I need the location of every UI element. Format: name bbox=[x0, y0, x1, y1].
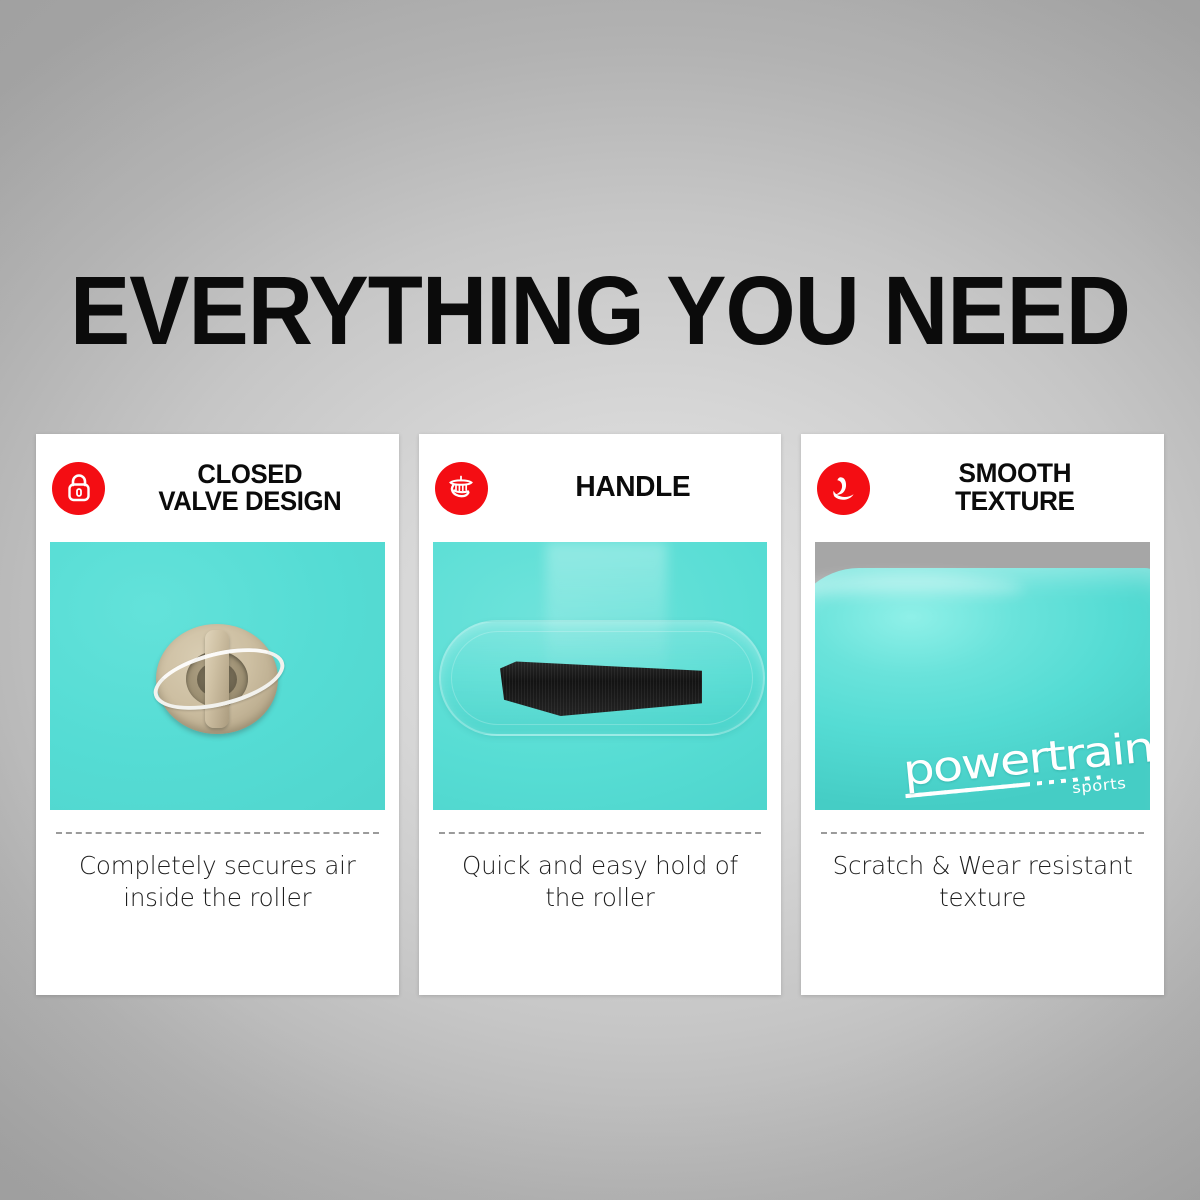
feature-card-smooth-texture[interactable]: SMOOTH TEXTURE powertrain sports Scratch… bbox=[801, 434, 1164, 995]
card-title: HANDLE bbox=[502, 473, 764, 503]
smooth-wave-icon bbox=[817, 462, 870, 515]
card-caption: Quick and easy hold of the roller bbox=[419, 834, 782, 995]
product-photo-handle bbox=[433, 542, 768, 810]
product-photo-texture: powertrain sports bbox=[815, 542, 1150, 810]
page-title: EVERYTHING YOU NEED bbox=[42, 262, 1158, 359]
card-caption: Scratch & Wear resistant texture bbox=[801, 834, 1164, 995]
card-title-line-2: VALVE DESIGN bbox=[158, 486, 341, 516]
padlock-icon bbox=[52, 462, 105, 515]
card-caption: Completely secures air inside the roller bbox=[36, 834, 399, 995]
card-title-line-1: SMOOTH bbox=[959, 458, 1072, 488]
card-title-line-2: TEXTURE bbox=[955, 486, 1075, 516]
feature-card-handle[interactable]: HANDLE Quick and easy hold of the roller bbox=[419, 434, 782, 995]
valve-assembly bbox=[156, 624, 278, 734]
card-title: SMOOTH TEXTURE bbox=[884, 460, 1146, 515]
feature-card-row: CLOSED VALVE DESIGN Completely secures a… bbox=[36, 434, 1164, 995]
hand-grip-icon bbox=[435, 462, 488, 515]
card-title: CLOSED VALVE DESIGN bbox=[119, 461, 381, 515]
product-photo-valve bbox=[50, 542, 385, 810]
card-title-line-1: CLOSED bbox=[197, 459, 302, 489]
card-header: CLOSED VALVE DESIGN bbox=[36, 434, 399, 542]
card-header: SMOOTH TEXTURE bbox=[801, 434, 1164, 542]
card-title-line-1: HANDLE bbox=[575, 471, 690, 503]
card-header: HANDLE bbox=[419, 434, 782, 542]
feature-card-closed-valve-design[interactable]: CLOSED VALVE DESIGN Completely secures a… bbox=[36, 434, 399, 995]
infographic-stage: EVERYTHING YOU NEED CLOSED VALVE DESIGN bbox=[0, 0, 1200, 1200]
